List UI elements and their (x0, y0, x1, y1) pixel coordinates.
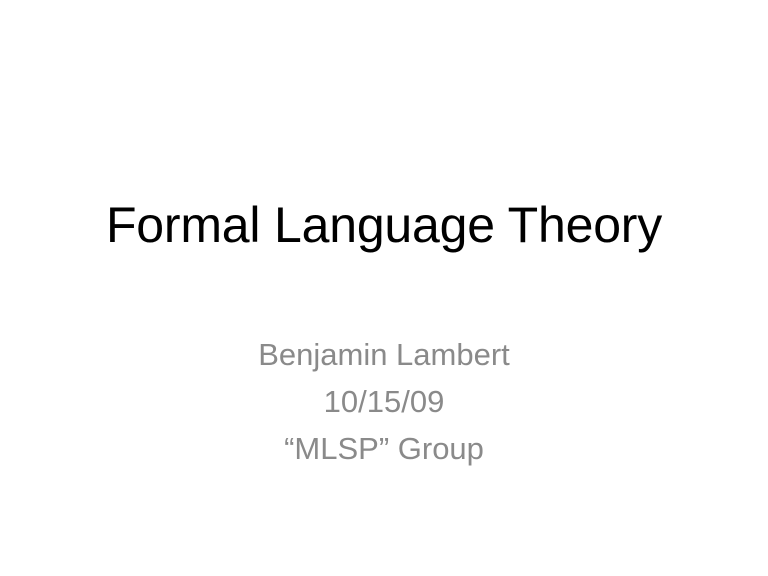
subtitle-line-date: 10/15/09 (58, 378, 710, 425)
title-placeholder: Formal Language Theory (58, 196, 710, 254)
subtitle-line-group: “MLSP” Group (58, 425, 710, 472)
subtitle-line-author: Benjamin Lambert (58, 331, 710, 378)
presentation-title-slide: Formal Language Theory Benjamin Lambert … (0, 0, 768, 576)
subtitle-placeholder: Benjamin Lambert 10/15/09 “MLSP” Group (58, 331, 710, 472)
page-title: Formal Language Theory (58, 196, 710, 254)
